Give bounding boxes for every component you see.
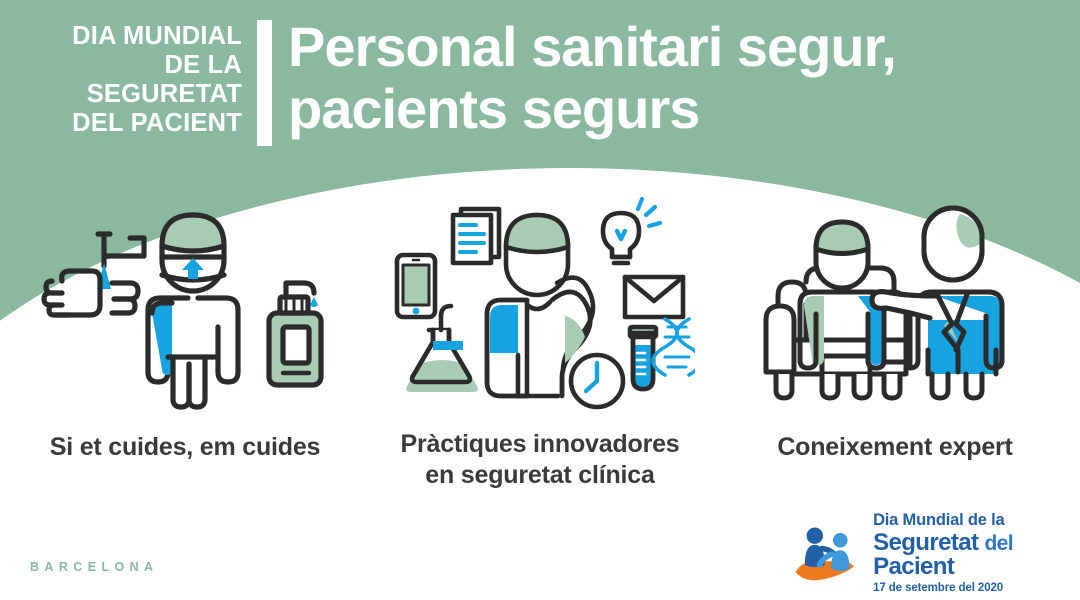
wpsd-line-3: 17 de setembre del 2020 — [873, 583, 1080, 595]
panel-innovation-caption-line-2: en seguretat clínica — [375, 460, 705, 491]
wpsd-line-2-strong-b: Pacient — [873, 553, 954, 580]
clinic-logo-word: CLÍNIC — [24, 514, 185, 554]
smartphone-icon — [397, 255, 435, 317]
eyebrow-line-3: SEGURETAT — [18, 80, 242, 109]
poster-canvas: DIA MUNDIAL DE LA SEGURETAT DEL PACIENT … — [0, 0, 1080, 600]
title-line-2: pacients segurs — [288, 78, 896, 140]
hand-sanitizer-icon — [269, 283, 321, 385]
title-line-1: Personal sanitari segur, — [288, 16, 896, 78]
wpsd-line-2-light: del — [984, 532, 1013, 555]
clinic-logo-city: BARCELONA — [24, 559, 162, 576]
poster-header: DIA MUNDIAL DE LA SEGURETAT DEL PACIENT … — [0, 0, 1080, 168]
eyebrow-line-2: DE LA — [18, 51, 242, 80]
eyebrow-line-4: DEL PACIENT — [18, 109, 242, 138]
wpsd-logo: Dia Mundial de la Seguretat del Pacient … — [792, 512, 1080, 594]
masked-worker-icon — [148, 215, 238, 407]
lightbulb-icon — [603, 199, 660, 263]
panel-innovation-caption-line-1: Pràctiques innovadores — [375, 429, 705, 460]
wpsd-line-2-strong-a: Seguretat — [873, 529, 978, 556]
innovation-illustration — [385, 195, 695, 415]
panel-expertise-caption: Coneixement expert — [720, 432, 1070, 463]
clinic-logo-subtitle: Hospital Universitari — [24, 583, 185, 599]
clinic-barcelona-logo: CLÍNIC BARCELONA Hospital Universitari — [24, 514, 185, 599]
documents-icon — [453, 209, 499, 263]
envelope-icon — [625, 277, 683, 317]
panel-self-care: Si et cuides, em cuides — [10, 205, 360, 463]
page-title: Personal sanitari segur, pacients segurs — [288, 16, 896, 139]
header-eyebrow: DIA MUNDIAL DE LA SEGURETAT DEL PACIENT — [18, 22, 242, 138]
panel-innovation-caption: Pràctiques innovadores en seguretat clín… — [375, 429, 705, 490]
panel-self-care-caption: Si et cuides, em cuides — [10, 432, 360, 463]
wpsd-line-1: Dia Mundial de la — [873, 512, 1080, 529]
two-figures-on-hand-icon — [792, 522, 863, 584]
panel-expertise: Coneixement expert — [720, 200, 1070, 463]
header-divider-rule — [257, 20, 272, 146]
panel-innovation: Pràctiques innovadores en seguretat clín… — [375, 195, 705, 490]
eyebrow-line-1: DIA MUNDIAL — [18, 22, 242, 51]
dna-helix-icon — [653, 319, 695, 375]
handwashing-icon — [44, 234, 144, 315]
wpsd-logo-text: Dia Mundial de la Seguretat del Pacient … — [873, 512, 1080, 594]
clock-icon — [571, 355, 623, 407]
self-care-illustration — [40, 205, 330, 410]
wpsd-line-2: Seguretat del Pacient — [873, 531, 1080, 579]
expertise-illustration — [760, 200, 1030, 410]
